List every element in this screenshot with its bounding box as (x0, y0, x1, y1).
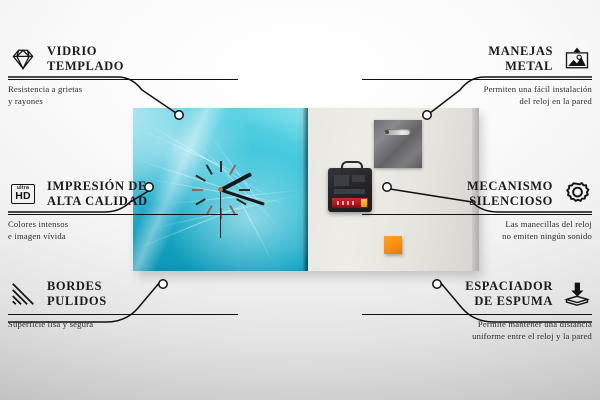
feature-foam-spacer: ESPACIADOR DE ESPUMA Permite mantener un… (362, 277, 592, 343)
feature-polished-edges: BORDES PULIDOS Superficie lisa y segura (8, 277, 238, 330)
clock-edge (303, 108, 308, 271)
metal-hanger-plate (374, 120, 422, 168)
polished-edges-icon (8, 279, 38, 309)
feature-title: VIDRIO TEMPLADO (47, 44, 124, 74)
feature-description: Resistencia a grietas y rayones (8, 83, 238, 108)
movement-hanging-loop (341, 161, 363, 172)
feature-metal-handles: MANEJAS METAL Permiten una fácil instala… (362, 42, 592, 108)
infographic-canvas: VIDRIO TEMPLADO Resistencia a grietas y … (0, 0, 600, 400)
feature-title: MECANISMO SILENCIOSO (467, 179, 553, 209)
feature-title: IMPRESIÓN DE ALTA CALIDAD (47, 179, 148, 209)
feature-title: MANEJAS METAL (488, 44, 553, 74)
feature-divider (362, 314, 592, 315)
foam-spacer-icon (562, 279, 592, 309)
feature-description: Colores intensos e imagen vívida (8, 218, 238, 243)
feature-description: Las manecillas del reloj no emiten ningú… (362, 218, 592, 243)
feature-description: Permite mantener una distancia uniforme … (362, 318, 592, 343)
feature-silent-mechanism: MECANISMO SILENCIOSO Las manecillas del … (362, 177, 592, 243)
feature-divider (362, 214, 592, 215)
feature-high-quality-print: ultra HD IMPRESIÓN DE ALTA CALIDAD Color… (8, 177, 238, 243)
feature-divider (8, 79, 238, 80)
feature-divider (8, 214, 238, 215)
feature-title: BORDES PULIDOS (47, 279, 107, 309)
hanger-hole (385, 130, 389, 134)
feature-description: Superficie lisa y segura (8, 318, 238, 330)
gear-icon (562, 179, 592, 209)
framed-picture-icon (562, 44, 592, 74)
movement-detail (334, 189, 365, 194)
feature-tempered-glass: VIDRIO TEMPLADO Resistencia a grietas y … (8, 42, 238, 108)
feature-divider (8, 314, 238, 315)
feature-divider (362, 79, 592, 80)
feature-description: Permiten una fácil instalación del reloj… (362, 83, 592, 108)
movement-detail (334, 175, 349, 186)
feature-title: ESPACIADOR DE ESPUMA (465, 279, 553, 309)
ultra-hd-icon: ultra HD (8, 179, 38, 209)
diamond-icon (8, 44, 38, 74)
